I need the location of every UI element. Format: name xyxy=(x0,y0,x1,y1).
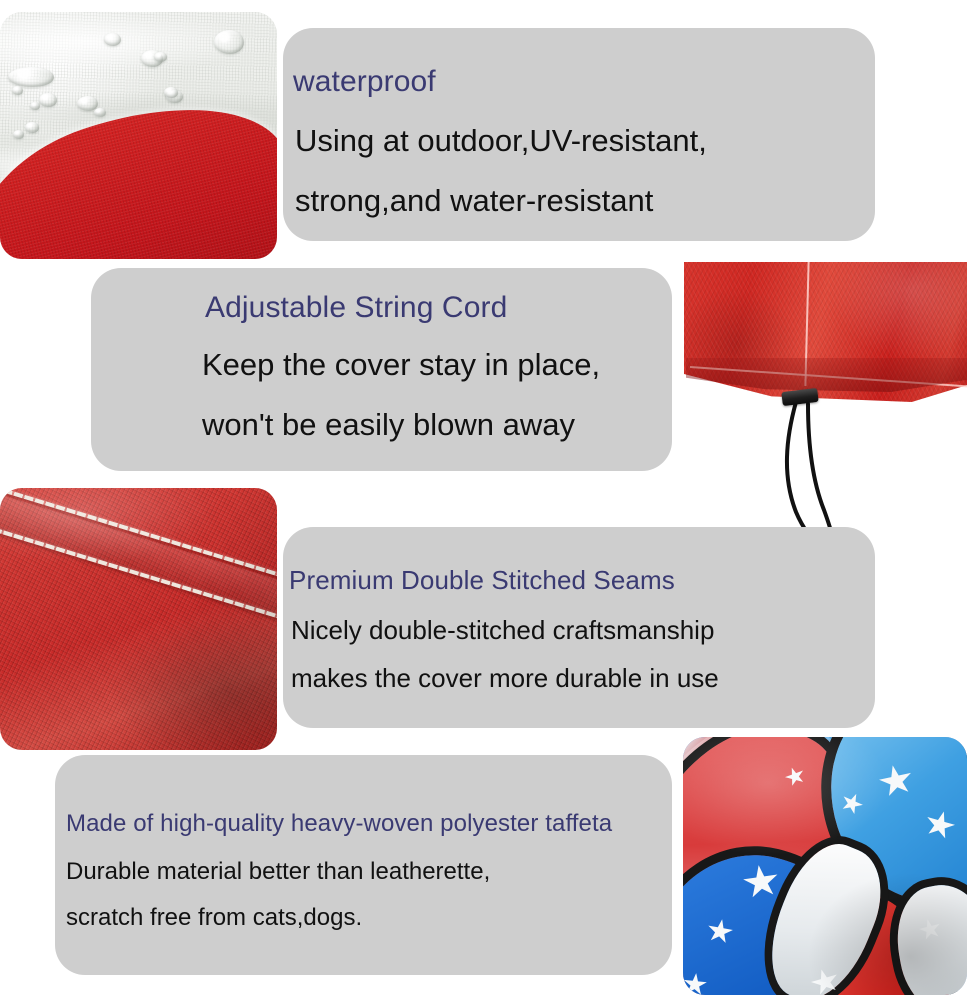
feature-panel-material: Made of high-quality heavy-woven polyest… xyxy=(55,755,672,975)
flag-print-sheen xyxy=(683,737,967,995)
water-droplet xyxy=(25,122,39,133)
feature-panel-string-cord: Adjustable String Cord Keep the cover st… xyxy=(91,268,672,471)
feature-heading-waterproof: waterproof xyxy=(293,65,436,99)
fabric-shading xyxy=(0,488,277,750)
feature-line-1: Using at outdoor,UV-resistant, xyxy=(295,123,707,159)
feature-line-2: strong,and water-resistant xyxy=(295,183,653,219)
feature-heading-material: Made of high-quality heavy-woven polyest… xyxy=(66,810,612,838)
water-droplet xyxy=(8,67,54,87)
water-droplet xyxy=(12,86,23,95)
feature-panel-double-stitched-seams: Premium Double Stitched Seams Nicely dou… xyxy=(283,527,875,728)
photo-waterproof-fabric xyxy=(0,12,277,259)
feature-line-2: won't be easily blown away xyxy=(202,407,575,443)
photo-double-stitched-seams xyxy=(0,488,277,750)
feature-line-2: makes the cover more durable in use xyxy=(291,663,719,694)
feature-line-2: scratch free from cats,dogs. xyxy=(66,904,362,932)
feature-line-1: Keep the cover stay in place, xyxy=(202,347,600,383)
feature-heading-string-cord: Adjustable String Cord xyxy=(205,291,507,325)
water-droplet xyxy=(154,52,167,62)
water-droplet xyxy=(30,102,40,110)
water-droplet xyxy=(104,33,121,46)
infographic-canvas: waterproof Using at outdoor,UV-resistant… xyxy=(0,0,967,1000)
water-droplet xyxy=(13,130,24,139)
water-droplet xyxy=(214,30,244,54)
water-droplet xyxy=(39,93,57,107)
feature-panel-waterproof: waterproof Using at outdoor,UV-resistant… xyxy=(283,28,875,241)
photo-patriotic-print-fabric xyxy=(683,737,967,995)
water-droplet xyxy=(164,87,178,98)
water-droplet xyxy=(94,108,106,117)
feature-heading-double-stitched-seams: Premium Double Stitched Seams xyxy=(289,565,675,596)
feature-line-1: Durable material better than leatherette… xyxy=(66,858,490,886)
feature-line-1: Nicely double-stitched craftsmanship xyxy=(291,615,714,646)
